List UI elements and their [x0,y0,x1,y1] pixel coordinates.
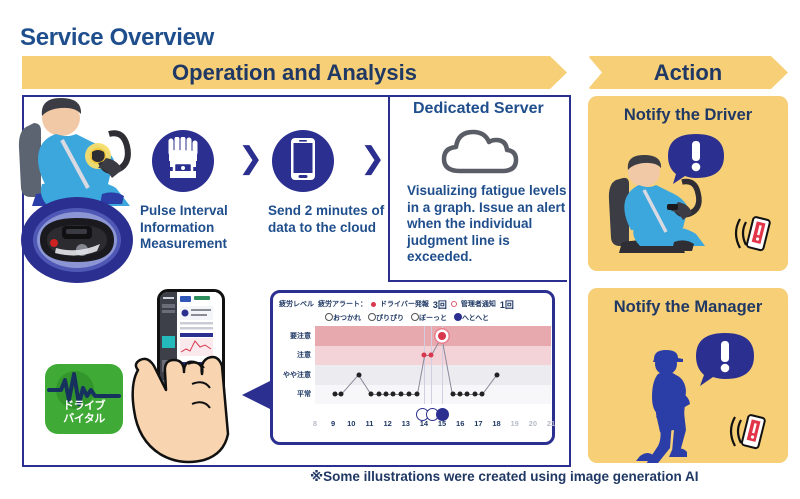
step-2-smartphone-icon-circle [272,130,334,192]
flow-arrow-2-icon: ❯ [360,141,385,176]
manager-alert-count: 1回 [500,298,514,311]
banner-operation-and-analysis: Operation and Analysis [22,56,567,89]
cloud-icon [440,126,520,176]
chart-x-tick-21: 21 [547,419,555,428]
chart-x-tick-9: 9 [331,419,335,428]
chart-y-label-3: 平常 [297,389,311,399]
chart-data-point [450,392,455,397]
face-tired-icon [325,313,333,321]
face-irritated-icon [368,313,376,321]
footnote: ※Some illustrations were created using i… [310,469,698,485]
chart-data-point [383,392,388,397]
chart-y-label-2: やや注意 [283,370,311,380]
chart-x-tick-10: 10 [347,419,355,428]
chart-data-point [332,392,337,397]
chart-x-axis: 89101112131415161718192021 [315,419,551,431]
legend-label-1: ぴりぴり [376,315,404,322]
page-title: Service Overview [20,24,214,52]
chart-data-point [458,392,463,397]
wristband-icon [163,137,203,186]
hand-holding-phone-illustration [128,300,248,465]
chart-data-point [480,392,485,397]
chart-data-point [376,392,381,397]
legend-item-2: ぼーっと [411,313,447,323]
legend-item-3: へとへと [454,313,489,323]
drive-vital-app-badge: ドライブ バイタル [45,364,123,434]
step-1-label: Pulse Interval Information Measurement [140,203,258,253]
driver-illustration [6,96,146,206]
banner-action-label: Action [654,60,722,86]
chart-data-point [399,392,404,397]
chart-vertical-guide [431,326,432,404]
chart-to-phone-arrow-icon [240,375,274,415]
notify-the-manager-title: Notify the Manager [588,298,788,317]
step-1-wristband-icon-circle [152,130,214,192]
banner-action: Action [588,56,788,89]
manager-alert-icon [588,316,788,463]
chart-y-label-1: 注意 [297,350,311,360]
driver-alert-count: 3回 [433,298,447,311]
chart-band-平常 [315,385,551,405]
chart-x-tick-12: 12 [383,419,391,428]
chart-header: 疲労レベル 疲労アラート： ドライバー発報 3回 管理者通知 1回 [279,297,551,311]
chart-title: 疲労レベル [279,299,314,309]
chart-data-point [339,392,344,397]
chart-x-tick-19: 19 [511,419,519,428]
app-badge-line-1: ドライブ [45,400,123,413]
legend-item-0: おつかれ [325,313,361,323]
chart-legend: おつかれ ぴりぴり ぼーっと へとへと [325,312,551,324]
chart-x-tick-13: 13 [402,419,410,428]
chart-plot-area: 要注意注意やや注意平常 [315,326,551,404]
chart-vertical-guide [424,326,425,404]
smartphone-icon [289,136,317,187]
notify-the-driver-title: Notify the Driver [588,106,788,125]
face-spacedout-icon [411,313,419,321]
dedicated-server-title: Dedicated Server [413,100,544,118]
chart-data-point [494,372,499,377]
chart-x-tick-8: 8 [313,419,317,428]
chart-y-label-0: 要注意 [290,331,311,341]
chart-x-tick-16: 16 [456,419,464,428]
banner-operation-label: Operation and Analysis [172,60,417,86]
chart-x-tick-15: 15 [438,419,446,428]
chart-x-tick-11: 11 [365,419,373,428]
chart-data-point [369,392,374,397]
flow-arrow-1-icon: ❯ [238,141,263,176]
driver-alert-label: ドライバー発報 [380,299,429,309]
legend-label-2: ぼーっと [419,315,447,322]
chart-data-point [472,392,477,397]
wristband-device-badge [20,196,135,284]
fatigue-level-chart-card: 疲労レベル 疲労アラート： ドライバー発報 3回 管理者通知 1回 おつかれ ぴ… [270,290,555,445]
manager-alert-ring-icon [451,301,457,307]
chart-alert-label: 疲労アラート： [318,299,367,309]
chart-x-tick-17: 17 [474,419,482,428]
chart-data-point [421,353,426,358]
chart-data-point [407,392,412,397]
notify-the-driver-card: Notify the Driver [588,96,788,271]
chart-data-point [414,392,419,397]
chart-data-point [429,353,434,358]
legend-label-3: へとへと [462,315,489,322]
notify-the-manager-card: Notify the Manager [588,288,788,463]
chart-x-tick-18: 18 [492,419,500,428]
driver-alert-dot-icon [371,302,376,307]
app-badge-line-2: バイタル [45,413,123,426]
chart-data-point [356,372,361,377]
manager-alert-label: 管理者通知 [461,299,496,309]
dedicated-server-description: Visualizing fatigue levels in a graph. I… [407,183,567,266]
chart-data-point [391,392,396,397]
chart-x-tick-20: 20 [529,419,537,428]
driver-alert-icon [588,124,788,271]
legend-item-1: ぴりぴり [368,313,404,323]
face-exhausted-icon [454,313,462,321]
chart-data-point [438,332,446,340]
step-2-label: Send 2 minutes of data to the cloud [268,203,386,236]
chart-x-tick-14: 14 [420,419,428,428]
chart-band-要注意 [315,326,551,346]
chart-data-point [465,392,470,397]
legend-label-0: おつかれ [333,315,361,322]
